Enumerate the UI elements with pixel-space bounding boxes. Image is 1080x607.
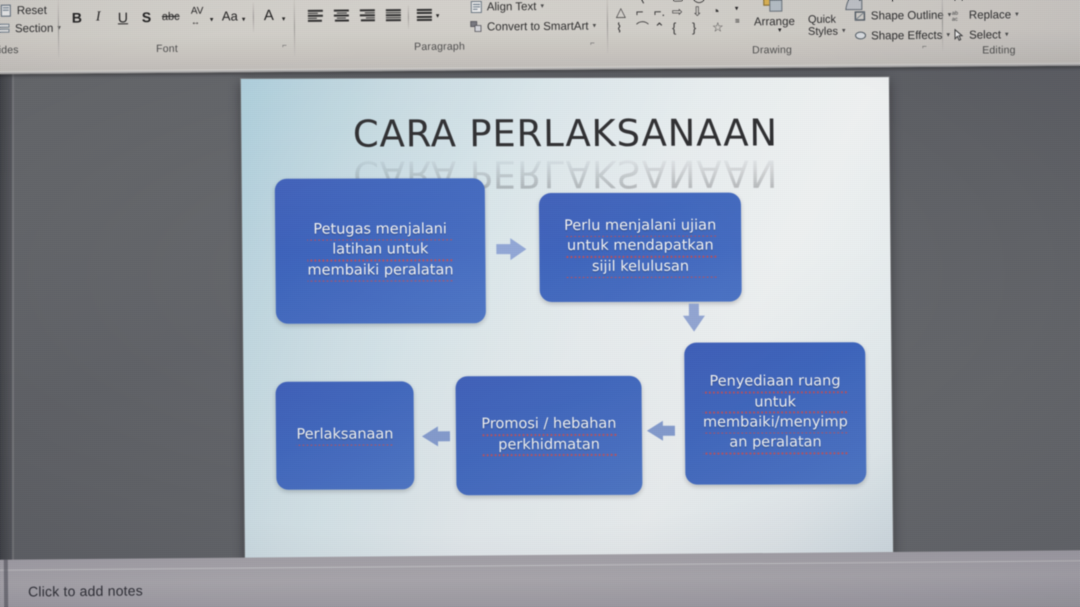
shape-outline-label: Shape Outline — [871, 9, 944, 22]
chevron-down-icon[interactable]: ▾ — [1005, 30, 1009, 38]
shape-arc-icon[interactable]: ⌃ — [654, 21, 665, 34]
shape-effects-button[interactable]: Shape Effects ▾ — [854, 29, 950, 43]
reset-label: Reset — [17, 4, 47, 16]
section-button[interactable]: Section ▾ — [0, 22, 61, 35]
change-case-caret[interactable]: ▾ — [242, 15, 246, 23]
flow-line: untuk — [703, 393, 848, 414]
ribbon-shapes-gallery[interactable]: ▭ ╲ ↘ ▢ ◯ ▭ △ ⌐ ⌐. ⇨ ⇩ ◔ ⌇ ⌒ ⌃ { } ☆ — [610, 0, 746, 61]
ribbon-group-label-editing: Editing — [982, 44, 1016, 56]
powerpoint-window: CARA PERLAKSANAAN CARA PERLAKSANAAN Petu… — [0, 0, 1080, 607]
flow-box-ujian-sijil[interactable]: Perlu menjalani ujian untuk mendapatkan … — [539, 193, 742, 303]
arrange-button[interactable]: Arrange — [754, 16, 795, 28]
flow-line: Promosi / hebahan — [481, 415, 616, 436]
smartart-icon — [470, 20, 483, 33]
flow-line: untuk mendapatkan — [564, 237, 716, 258]
chevron-down-icon[interactable]: ▾ — [842, 27, 846, 35]
shape-outline-button[interactable]: Shape Outline ▾ — [854, 9, 952, 23]
select-label: Select — [969, 29, 1001, 41]
font-dialog-launcher[interactable]: ⌐ — [282, 41, 287, 50]
flow-line: latihan untuk — [307, 241, 453, 262]
shape-oval-icon[interactable]: ◯ — [692, 0, 707, 2]
character-spacing-caret[interactable]: ▾ — [210, 16, 214, 24]
shape-left-brace-icon[interactable]: { — [672, 21, 676, 34]
ribbon-paragraph-extras: Align Text ▾ Convert to SmartArt ▾ ⌐ — [468, 0, 609, 63]
align-text-icon — [470, 0, 483, 13]
chevron-down-icon[interactable]: ▾ — [540, 1, 544, 9]
ribbon-group-slides: Reset Section ▾ lides — [0, 0, 64, 66]
flow-box-text: Perlaksanaan — [286, 425, 403, 446]
shape-fill-button[interactable]: Shape Fill ▾ — [854, 0, 930, 3]
flow-line: Penyediaan ruang — [703, 372, 848, 393]
ribbon-group-label-slides: lides — [0, 44, 19, 56]
shape-rectangle-icon[interactable]: ▭ — [616, 0, 628, 2]
find-icon — [952, 0, 965, 2]
shapes-scroll-down-icon[interactable]: ▾ — [735, 4, 739, 12]
select-button[interactable]: Select ▾ — [952, 28, 1009, 41]
flow-box-text: Promosi / hebahan perkhidmatan — [471, 415, 627, 456]
columns-button[interactable] — [417, 9, 432, 21]
shape-block-arrow-down-icon[interactable]: ⇩ — [692, 5, 703, 18]
ribbon-home-tab[interactable]: Reset Section ▾ lides B I U S abc AV ↔ ▾… — [0, 0, 1080, 74]
underline-button[interactable]: U — [118, 9, 128, 25]
flow-line: Perlu menjalani ujian — [564, 216, 716, 237]
shape-effects-label: Shape Effects — [871, 29, 942, 42]
replace-button[interactable]: abac Replace ▾ — [952, 8, 1019, 22]
shape-effects-icon — [854, 29, 867, 42]
quick-styles-button[interactable]: Quick — [808, 14, 836, 26]
flow-line: membaiki/menyimp — [703, 413, 848, 434]
align-center-button[interactable] — [334, 10, 349, 22]
ribbon-group-label-paragraph: Paragraph — [414, 41, 465, 53]
slide-thumbnail-rail[interactable] — [0, 62, 14, 565]
ribbon-group-editing: Find abac Replace ▾ Select ▾ Editing — [946, 0, 1067, 59]
ribbon-group-label-drawing: Drawing — [752, 44, 792, 56]
columns-caret[interactable]: ▾ — [436, 12, 440, 20]
font-color-button[interactable]: A — [264, 7, 274, 24]
rail-divider — [12, 62, 14, 565]
quick-styles-button-2[interactable]: Styles ▾ — [808, 26, 846, 38]
font-inner-separator — [253, 2, 254, 32]
shape-block-arrow-right-icon[interactable]: ⇨ — [672, 5, 683, 18]
align-right-button[interactable] — [360, 9, 375, 21]
shape-fill-label: Shape Fill — [871, 0, 922, 2]
align-text-button[interactable]: Align Text ▾ — [470, 0, 544, 14]
arrow-shaft — [661, 426, 675, 436]
flow-line: membaiki peralatan — [307, 261, 453, 282]
arrange-caret[interactable]: ▾ — [778, 26, 782, 34]
notes-pane[interactable]: Click to add notes — [0, 550, 1080, 607]
arrow-right-icon[interactable] — [496, 238, 526, 260]
flow-line: Petugas menjalani — [307, 220, 453, 241]
align-left-button[interactable] — [308, 10, 323, 22]
section-label: Section — [15, 22, 53, 34]
ribbon-group-paragraph: ▾ Paragraph — [296, 0, 467, 64]
font-color-caret[interactable]: ▾ — [282, 15, 286, 23]
flow-line: Perlaksanaan — [296, 425, 393, 446]
arrange-label: Arrange — [754, 16, 795, 28]
shape-square-icon[interactable]: ▢ — [672, 0, 684, 2]
shape-roundrect-icon[interactable]: ▭ — [712, 0, 724, 2]
arrange-icon — [762, 0, 786, 14]
bold-button[interactable]: B — [72, 10, 82, 26]
slide-canvas[interactable]: CARA PERLAKSANAAN CARA PERLAKSANAAN Petu… — [241, 77, 893, 571]
align-text-label: Align Text — [487, 1, 537, 13]
ribbon-group-drawing: Arrange ▾ Quick Styles ▾ Shape Fill ▾ — [750, 0, 941, 60]
svg-text:ac: ac — [952, 17, 958, 22]
replace-icon: abac — [952, 9, 965, 22]
flow-box-penyediaan-ruang[interactable]: Penyediaan ruang untuk membaiki/menyimp … — [684, 342, 866, 484]
find-button[interactable]: Find — [952, 0, 991, 2]
arrow-left-icon-a[interactable] — [647, 421, 675, 441]
shape-connector-icon[interactable]: ⌐. — [654, 5, 665, 18]
select-cursor-icon — [952, 29, 965, 42]
flow-box-text: Perlu menjalani ujian untuk mendapatkan … — [554, 216, 727, 278]
shape-arrow-icon[interactable]: ↘ — [654, 0, 665, 2]
arrow-left-icon-b[interactable] — [422, 426, 450, 446]
replace-label: Replace — [969, 9, 1011, 21]
shape-star-icon[interactable]: ☆ — [712, 21, 724, 34]
shape-outline-icon — [854, 9, 867, 22]
convert-to-smartart-button[interactable]: Convert to SmartArt ▾ — [470, 20, 596, 34]
shape-freeform-icon[interactable]: ⌇ — [616, 21, 622, 34]
shape-right-brace-icon[interactable]: } — [692, 21, 696, 34]
notes-rail-tab — [4, 560, 9, 607]
slide-title[interactable]: CARA PERLAKSANAAN — [241, 111, 889, 156]
find-label: Find — [969, 0, 991, 1]
flow-line: sijil kelulusan — [564, 257, 716, 278]
flow-box-text: Petugas menjalani latihan untuk membaiki… — [297, 220, 464, 282]
flow-box-text: Penyediaan ruang untuk membaiki/menyimp … — [693, 372, 858, 454]
shape-line-icon[interactable]: ╲ — [636, 0, 644, 2]
character-spacing-arrow-icon: ↔ — [191, 17, 200, 27]
flow-line: an peralatan — [703, 434, 848, 455]
ribbon-group-font: B I U S abc AV ↔ ▾ Aa ▾ A ▾ Font ⌐ — [60, 0, 295, 66]
drawing-dialog-launcher[interactable]: ⌐ — [922, 42, 927, 51]
quick-styles-label-1: Quick — [808, 14, 836, 26]
quick-styles-label-2: Styles — [808, 26, 838, 38]
chevron-down-icon[interactable]: ▾ — [1015, 10, 1019, 18]
shapes-more-icon[interactable]: ≡ — [735, 16, 740, 25]
character-spacing-button[interactable]: AV — [191, 6, 204, 17]
shape-fill-icon — [854, 0, 867, 3]
reset-button[interactable]: Reset — [0, 4, 47, 17]
shapes-gallery-scroll[interactable]: ▴ ▾ ≡ — [734, 0, 749, 60]
shape-pie-icon[interactable]: ◔ — [712, 5, 720, 18]
reset-icon — [0, 4, 13, 17]
flow-box-petugas-latihan[interactable]: Petugas menjalani latihan untuk membaiki… — [275, 178, 486, 324]
justify-button[interactable] — [386, 9, 401, 21]
chevron-down-icon[interactable]: ▾ — [593, 21, 597, 29]
ribbon-group-label-font: Font — [156, 43, 178, 55]
arrow-head — [510, 238, 526, 260]
arrow-head — [422, 426, 438, 446]
strikethrough-button[interactable]: abc — [162, 11, 180, 23]
shape-triangle-icon[interactable]: △ — [616, 5, 626, 18]
arrow-shaft — [436, 431, 450, 441]
convert-smartart-label: Convert to SmartArt — [487, 20, 589, 33]
arrow-down-icon[interactable] — [683, 304, 705, 332]
group-separator — [607, 0, 608, 53]
shape-right-triangle-icon[interactable]: ⌐ — [636, 5, 644, 18]
notes-divider — [0, 560, 1080, 571]
flow-box-perlaksanaan[interactable]: Perlaksanaan — [275, 381, 414, 489]
paragraph-inner-separator — [408, 5, 409, 29]
arrow-head — [647, 421, 663, 441]
change-case-button[interactable]: Aa — [222, 8, 238, 23]
italic-button[interactable]: I — [96, 9, 101, 25]
section-icon — [0, 22, 11, 35]
arrow-head — [683, 316, 705, 332]
group-separator — [942, 0, 943, 51]
text-shadow-button[interactable]: S — [142, 9, 151, 25]
shape-curve-icon[interactable]: ⌒ — [636, 21, 649, 34]
flow-line: perkhidmatan — [481, 435, 616, 456]
flow-box-promosi-hebahan[interactable]: Promosi / hebahan perkhidmatan — [455, 376, 642, 495]
paragraph-dialog-launcher[interactable]: ⌐ — [590, 39, 595, 48]
notes-placeholder[interactable]: Click to add notes — [28, 582, 143, 599]
